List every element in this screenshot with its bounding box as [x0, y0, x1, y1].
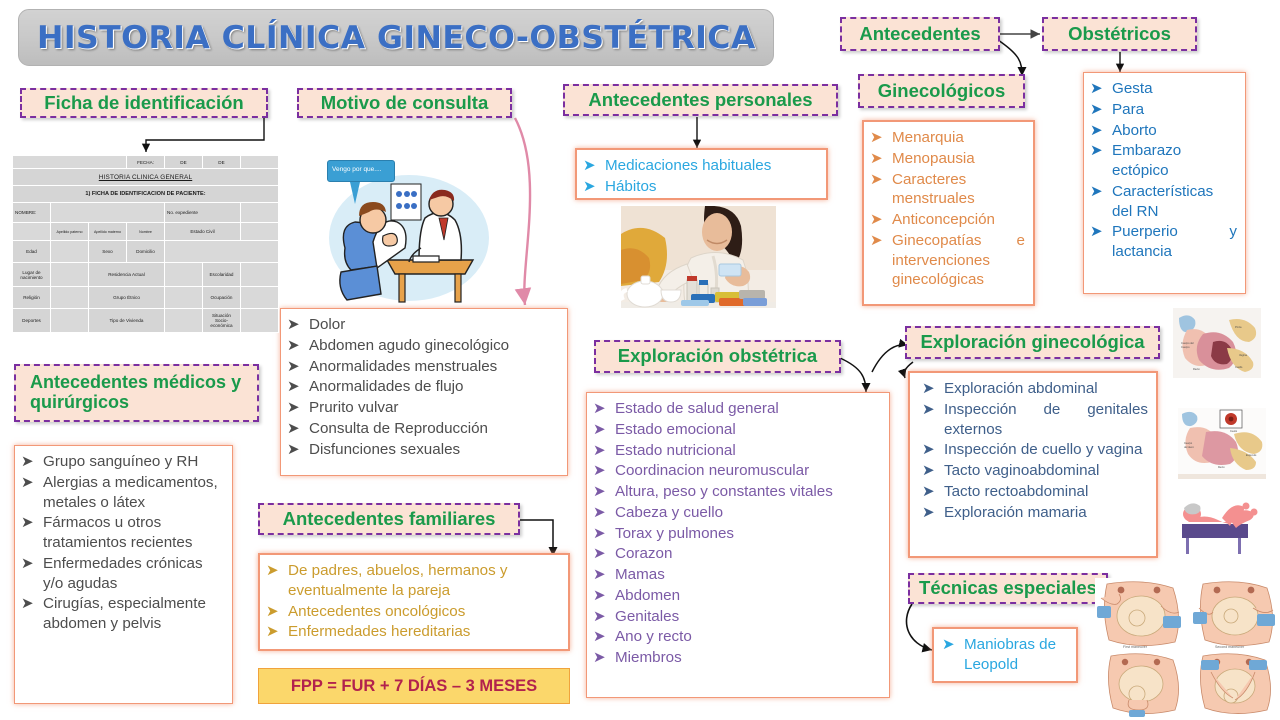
header-antecedentes-medicos-label: Antecedentes médicos y quirúrgicos [30, 373, 248, 413]
bullet-arrow-icon: ➤ [583, 156, 605, 176]
header-ginecologicos-label: Ginecológicos [878, 81, 1005, 101]
form-label-expediente: No. expediente [165, 203, 241, 223]
list-item: ➤Caracteres menstruales [870, 170, 1025, 210]
list-tecnicas-especiales: ➤Maniobras de Leopold [932, 627, 1078, 683]
list-item: ➤Anormalidades de flujo [287, 377, 559, 397]
svg-text:Recto: Recto [1193, 367, 1200, 371]
form-label-apellido-materno: Apellido materno [89, 223, 127, 241]
svg-text:Cuello: Cuello [1235, 365, 1243, 369]
form-cell [241, 263, 279, 287]
antecedentes-personales-items: ➤Medicaciones habituales ➤Hábitos [583, 156, 818, 197]
bullet-arrow-icon: ➤ [593, 544, 615, 564]
list-item: ➤Tacto vaginoabdominal [922, 461, 1148, 481]
svg-text:Cuerpo: Cuerpo [1184, 442, 1193, 445]
list-item: ➤Alergias a medicamentos, metales o láte… [21, 473, 224, 513]
form-label-estado-civil: Estado Civil [165, 223, 241, 241]
form-cell [51, 309, 89, 333]
bullet-arrow-icon: ➤ [593, 441, 615, 461]
form-label-grupo-etnico: Grupo Étnico [89, 287, 165, 309]
list-item: ➤Abdomen [593, 586, 881, 606]
cervix-inspection-svg: Cuello Cuerpo del útero Espéculo Recto [1178, 408, 1266, 474]
exploracion-obstetrica-items: ➤Estado de salud general ➤Estado emocion… [593, 399, 881, 668]
form-cell [51, 287, 89, 309]
bullet-arrow-icon: ➤ [266, 561, 288, 581]
bullet-arrow-icon: ➤ [266, 602, 288, 622]
form-label-lugar-nacimiento: Lugar de nacimiento [13, 263, 51, 287]
bullet-arrow-icon: ➤ [593, 648, 615, 668]
list-item: ➤Menopausia [870, 149, 1025, 169]
header-ginecologicos[interactable]: Ginecológicos [858, 74, 1025, 108]
form-label-nombre: NOMBRE: [13, 203, 51, 223]
header-ficha-label: Ficha de identificación [44, 93, 243, 113]
bullet-arrow-icon: ➤ [1090, 79, 1112, 99]
list-item: ➤Estado emocional [593, 420, 881, 440]
list-exploracion-obstetrica: ➤Estado de salud general ➤Estado emocion… [586, 392, 890, 698]
list-antecedentes-familiares: ➤De padres, abuelos, hermanos y eventual… [258, 553, 570, 651]
bullet-arrow-icon: ➤ [870, 149, 892, 169]
list-item: ➤Inspección de genitales externos [922, 400, 1148, 440]
list-item: ➤Aborto [1090, 121, 1237, 141]
bullet-arrow-icon: ➤ [870, 210, 892, 230]
form-label-ocupacion: Ocupación [203, 287, 241, 309]
list-antecedentes-medicos: ➤Grupo sanguíneo y RH ➤Alergias a medica… [14, 445, 233, 704]
list-item: ➤Maniobras de Leopold [942, 635, 1068, 675]
list-item: ➤Gesta [1090, 79, 1237, 99]
bullet-arrow-icon: ➤ [922, 400, 944, 420]
bullet-arrow-icon: ➤ [593, 627, 615, 647]
bullet-arrow-icon: ➤ [1090, 182, 1112, 202]
list-item: ➤Enfermedades crónicas y/o agudas [21, 554, 224, 594]
bullet-arrow-icon: ➤ [287, 440, 309, 460]
list-item: ➤Altura, peso y constantes vitales [593, 482, 881, 502]
list-item: ➤Ano y recto [593, 627, 881, 647]
header-antecedentes-personales[interactable]: Antecedentes personales [563, 84, 838, 116]
bullet-arrow-icon: ➤ [1090, 222, 1112, 242]
header-obstetricos-label: Obstétricos [1068, 24, 1171, 44]
bullet-arrow-icon: ➤ [922, 379, 944, 399]
antecedentes-medicos-items: ➤Grupo sanguíneo y RH ➤Alergias a medica… [21, 452, 224, 634]
form-cell [51, 263, 89, 287]
bullet-arrow-icon: ➤ [1090, 141, 1112, 161]
bullet-arrow-icon: ➤ [1090, 121, 1112, 141]
header-antecedentes-familiares-label: Antecedentes familiares [283, 509, 496, 529]
list-item: ➤Disfunciones sexuales [287, 440, 559, 460]
bullet-arrow-icon: ➤ [21, 554, 43, 574]
list-item: ➤Miembros [593, 648, 881, 668]
list-item: ➤Fármacos u otros tratamientos recientes [21, 513, 224, 553]
form-label-apellido-paterno: Apellido paterno [51, 223, 89, 241]
bullet-arrow-icon: ➤ [287, 357, 309, 377]
fpp-formula-box: FPP = FUR + 7 DÍAS – 3 MESES [258, 668, 570, 704]
bullet-arrow-icon: ➤ [593, 420, 615, 440]
bullet-arrow-icon: ➤ [593, 503, 615, 523]
list-item: ➤Embarazo ectópico [1090, 141, 1237, 181]
list-item: ➤Puerperio y lactancia [1090, 222, 1237, 262]
concept-map-canvas: HISTORIA CLÍNICA GINECO-OBSTÉTRICA Ficha… [0, 0, 1280, 720]
bullet-arrow-icon: ➤ [593, 524, 615, 544]
svg-text:Second maneuver: Second maneuver [1215, 645, 1245, 649]
header-exploracion-obstetrica[interactable]: Exploración obstétrica [594, 340, 841, 373]
bullet-arrow-icon: ➤ [870, 170, 892, 190]
list-item: ➤Enfermedades hereditarias [266, 622, 560, 642]
bullet-arrow-icon: ➤ [593, 586, 615, 606]
form-date-label: FECHA: [127, 156, 165, 169]
header-antecedentes-medicos[interactable]: Antecedentes médicos y quirúrgicos [14, 364, 259, 422]
form-cell [241, 203, 279, 223]
bullet-arrow-icon: ➤ [922, 482, 944, 502]
form-cell [165, 241, 279, 263]
list-item: ➤Menarquia [870, 128, 1025, 148]
header-antecedentes[interactable]: Antecedentes [840, 17, 1000, 51]
fpp-formula-text: FPP = FUR + 7 DÍAS – 3 MESES [291, 677, 537, 696]
svg-text:Cuello: Cuello [1230, 430, 1238, 433]
list-item: ➤Antecedentes oncológicos [266, 602, 560, 622]
list-item: ➤Tacto rectoabdominal [922, 482, 1148, 502]
bullet-arrow-icon: ➤ [593, 399, 615, 419]
list-item: ➤Estado nutricional [593, 441, 881, 461]
form-de-1: DE [165, 156, 203, 169]
exploracion-ginecologica-items: ➤Exploración abdominal ➤Inspección de ge… [922, 379, 1148, 522]
bullet-arrow-icon: ➤ [21, 594, 43, 614]
leopold-maneuvers-illustration: First maneuver Second maneuver [1095, 578, 1280, 720]
list-exploracion-ginecologica: ➤Exploración abdominal ➤Inspección de ge… [908, 371, 1158, 558]
list-item: ➤Para [1090, 100, 1237, 120]
antecedentes-familiares-items: ➤De padres, abuelos, hermanos y eventual… [266, 561, 560, 642]
list-item: ➤Exploración mamaria [922, 503, 1148, 523]
lithotomy-svg [1178, 498, 1264, 560]
bullet-arrow-icon: ➤ [870, 128, 892, 148]
svg-text:First maneuver: First maneuver [1123, 645, 1148, 649]
list-item: ➤Dolor [287, 315, 559, 335]
svg-text:Cuerpo del: Cuerpo del [1181, 341, 1194, 345]
header-tecnicas-especiales-label: Técnicas especiales [919, 578, 1097, 598]
form-label-nombre-col: Nombre [127, 223, 165, 241]
header-motivo-consulta[interactable]: Motivo de consulta [297, 88, 512, 118]
bullet-arrow-icon: ➤ [922, 440, 944, 460]
speech-bubble: Vengo por que.... [327, 160, 395, 182]
list-item: ➤Estado de salud general [593, 399, 881, 419]
form-cell [51, 203, 165, 223]
form-section-title: 1) FICHA DE IDENTIFICACION DE PACIENTE: [13, 186, 279, 203]
form-cell [241, 156, 279, 169]
list-item: ➤Anormalidades menstruales [287, 357, 559, 377]
bullet-arrow-icon: ➤ [21, 473, 43, 493]
bullet-arrow-icon: ➤ [287, 419, 309, 439]
svg-text:Recto: Recto [1218, 466, 1225, 469]
list-item: ➤Características del RN [1090, 182, 1237, 222]
list-antecedentes-personales: ➤Medicaciones habituales ➤Hábitos [575, 148, 828, 200]
list-ginecologicos: ➤Menarquia ➤Menopausia ➤Caracteres menst… [862, 120, 1035, 306]
bullet-arrow-icon: ➤ [593, 607, 615, 627]
form-cell [241, 309, 279, 333]
form-label-escolaridad: Escolaridad [203, 263, 241, 287]
medications-photo-svg [621, 206, 776, 324]
bullet-arrow-icon: ➤ [593, 461, 615, 481]
form-label-situacion: Situación Socio-económica [203, 309, 241, 333]
list-item: ➤Genitales [593, 607, 881, 627]
bullet-arrow-icon: ➤ [583, 177, 605, 197]
speculum-exam-svg: Pinza Cuerpo del Cuerpo Vagina Cuello Re… [1173, 308, 1261, 378]
list-item: ➤Consulta de Reproducción [287, 419, 559, 439]
svg-text:Vagina: Vagina [1239, 353, 1247, 357]
bullet-arrow-icon: ➤ [287, 377, 309, 397]
list-item: ➤Anticoncepción [870, 210, 1025, 230]
doctor-patient-illustration: Vengo por que.... [321, 156, 497, 308]
medications-photo [621, 206, 776, 324]
list-item: ➤Ginecopatías e intervenciones ginecológ… [870, 231, 1025, 290]
header-ficha-identificacion[interactable]: Ficha de identificación [20, 88, 268, 118]
bullet-arrow-icon: ➤ [21, 513, 43, 533]
bullet-arrow-icon: ➤ [593, 482, 615, 502]
bullet-arrow-icon: ➤ [287, 336, 309, 356]
form-label-residencia: Residencia Actual [89, 263, 165, 287]
form-de-2: DE [203, 156, 241, 169]
bullet-arrow-icon: ➤ [922, 503, 944, 523]
page-title-banner: HISTORIA CLÍNICA GINECO-OBSTÉTRICA [18, 9, 774, 66]
form-label-deportes: Deportes [13, 309, 51, 333]
clinical-history-form-image: FECHA: DE DE HISTORIA CLINICA GENERAL 1)… [12, 155, 279, 333]
bullet-arrow-icon: ➤ [942, 635, 964, 655]
bullet-arrow-icon: ➤ [287, 315, 309, 335]
header-obstetricos[interactable]: Obstétricos [1042, 17, 1197, 51]
bullet-arrow-icon: ➤ [870, 231, 892, 251]
form-cell [13, 223, 51, 241]
list-item: ➤Exploración abdominal [922, 379, 1148, 399]
list-motivo-consulta: ➤Dolor ➤Abdomen agudo ginecológico ➤Anor… [280, 308, 568, 476]
list-item: ➤Grupo sanguíneo y RH [21, 452, 224, 472]
header-antecedentes-label: Antecedentes [859, 24, 980, 44]
svg-text:del útero: del útero [1184, 446, 1194, 449]
speech-bubble-text: Vengo por que.... [332, 166, 382, 173]
form-cell [51, 241, 89, 263]
lithotomy-position-illustration [1178, 498, 1264, 560]
header-motivo-label: Motivo de consulta [321, 93, 489, 113]
obstetricos-items: ➤Gesta ➤Para ➤Aborto ➤Embarazo ectópico … [1090, 79, 1237, 262]
list-item: ➤Prurito vulvar [287, 398, 559, 418]
list-item: ➤Inspección de cuello y vagina [922, 440, 1148, 460]
form-label-domicilio: Domicilio [127, 241, 165, 263]
list-item: ➤Medicaciones habituales [583, 156, 818, 176]
list-item: ➤Hábitos [583, 177, 818, 197]
header-antecedentes-familiares[interactable]: Antecedentes familiares [258, 503, 520, 535]
list-item: ➤Torax y pulmones [593, 524, 881, 544]
bullet-arrow-icon: ➤ [21, 452, 43, 472]
form-cell [241, 223, 279, 241]
bullet-arrow-icon: ➤ [593, 565, 615, 585]
list-item: ➤De padres, abuelos, hermanos y eventual… [266, 561, 560, 601]
list-item: ➤Corazon [593, 544, 881, 564]
form-cell [165, 309, 203, 333]
form-label-sexo: Sexo [89, 241, 127, 263]
tecnicas-especiales-items: ➤Maniobras de Leopold [942, 635, 1068, 675]
bullet-arrow-icon: ➤ [266, 622, 288, 642]
header-exploracion-ginecologica-label: Exploración ginecológica [920, 332, 1144, 352]
form-title: HISTORIA CLINICA GENERAL [13, 169, 279, 186]
svg-text:Cuerpo: Cuerpo [1181, 345, 1190, 349]
list-item: ➤Abdomen agudo ginecológico [287, 336, 559, 356]
form-cell [165, 263, 203, 287]
header-exploracion-obstetrica-label: Exploración obstétrica [618, 346, 817, 366]
bullet-arrow-icon: ➤ [287, 398, 309, 418]
list-item: ➤Coordinacion neuromuscular [593, 461, 881, 481]
gyn-exam-illustration-1: Pinza Cuerpo del Cuerpo Vagina Cuello Re… [1173, 308, 1261, 378]
header-antecedentes-personales-label: Antecedentes personales [588, 90, 812, 110]
form-label-religion: Religión [13, 287, 51, 309]
form-label-edad: Edad [13, 241, 51, 263]
list-item: ➤Mamas [593, 565, 881, 585]
gyn-exam-illustration-2: Cuello Cuerpo del útero Espéculo Recto [1178, 408, 1266, 479]
bullet-arrow-icon: ➤ [922, 461, 944, 481]
form-cell [13, 156, 127, 169]
form-cell [241, 287, 279, 309]
svg-text:Espéculo: Espéculo [1246, 454, 1257, 457]
list-obstetricos: ➤Gesta ➤Para ➤Aborto ➤Embarazo ectópico … [1083, 72, 1246, 294]
header-exploracion-ginecologica[interactable]: Exploración ginecológica [905, 326, 1160, 359]
form-table: FECHA: DE DE HISTORIA CLINICA GENERAL 1)… [12, 155, 279, 333]
bullet-arrow-icon: ➤ [1090, 100, 1112, 120]
leopold-svg: First maneuver Second maneuver [1095, 578, 1280, 720]
list-item: ➤Cabeza y cuello [593, 503, 881, 523]
form-label-tipo-vivienda: Tipo de Vivienda [89, 309, 165, 333]
ginecologicos-items: ➤Menarquia ➤Menopausia ➤Caracteres menst… [870, 128, 1025, 290]
header-tecnicas-especiales[interactable]: Técnicas especiales [908, 573, 1108, 604]
form-cell [165, 287, 203, 309]
list-item: ➤Cirugías, especialmente abdomen y pelvi… [21, 594, 224, 634]
motivo-consulta-items: ➤Dolor ➤Abdomen agudo ginecológico ➤Anor… [287, 315, 559, 459]
page-title: HISTORIA CLÍNICA GINECO-OBSTÉTRICA [37, 20, 756, 56]
svg-text:Pinza: Pinza [1235, 325, 1242, 329]
